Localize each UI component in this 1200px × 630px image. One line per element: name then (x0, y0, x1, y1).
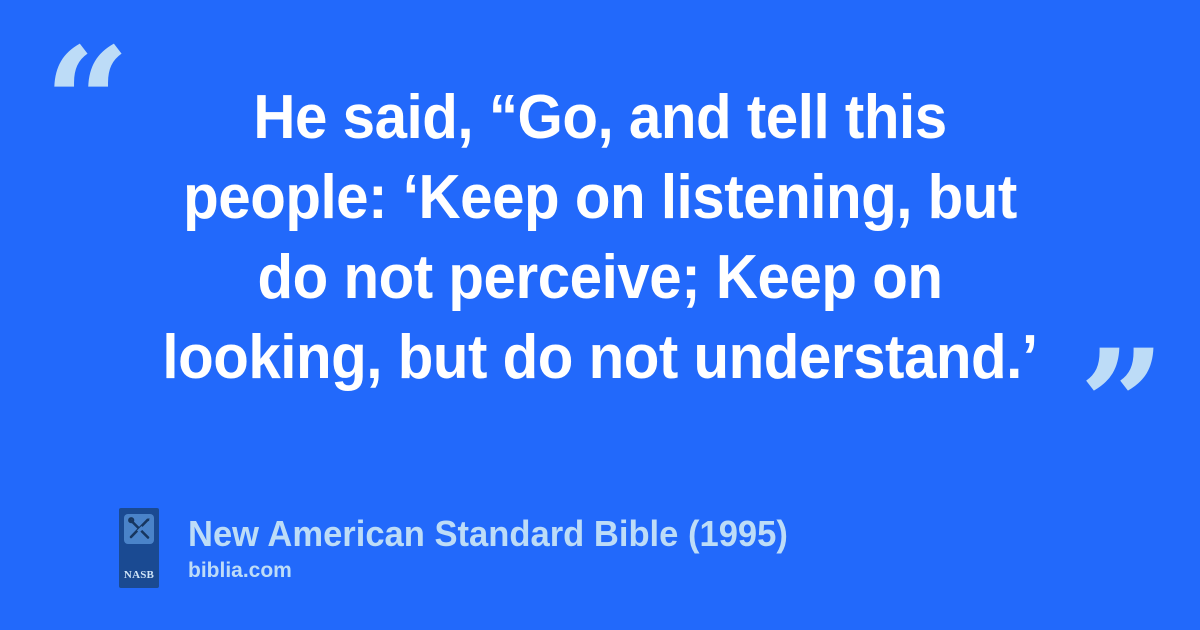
attribution-footer: NASB New American Standard Bible (1995) … (119, 508, 813, 588)
quote-card: “ He said, “Go, and tell this people: ‘K… (0, 0, 1200, 630)
closing-quote-icon: ” (1079, 330, 1165, 480)
quote-line: do not perceive; Keep on (92, 238, 1107, 318)
quote-line: looking, but do not understand.’ (92, 318, 1107, 398)
bible-version-label: New American Standard Bible (1995) (188, 512, 788, 556)
quote-line: people: ‘Keep on listening, but (92, 158, 1107, 238)
nasb-logo-label: NASB (119, 570, 159, 581)
nasb-logo: NASB (119, 508, 159, 588)
site-url-link[interactable]: biblia.com (188, 557, 813, 585)
quote-body: He said, “Go, and tell this people: ‘Kee… (92, 78, 1107, 398)
footer-text-block: New American Standard Bible (1995) bibli… (188, 508, 813, 585)
quote-line: He said, “Go, and tell this (92, 78, 1107, 158)
nasb-crossed-sword-icon (124, 514, 154, 544)
